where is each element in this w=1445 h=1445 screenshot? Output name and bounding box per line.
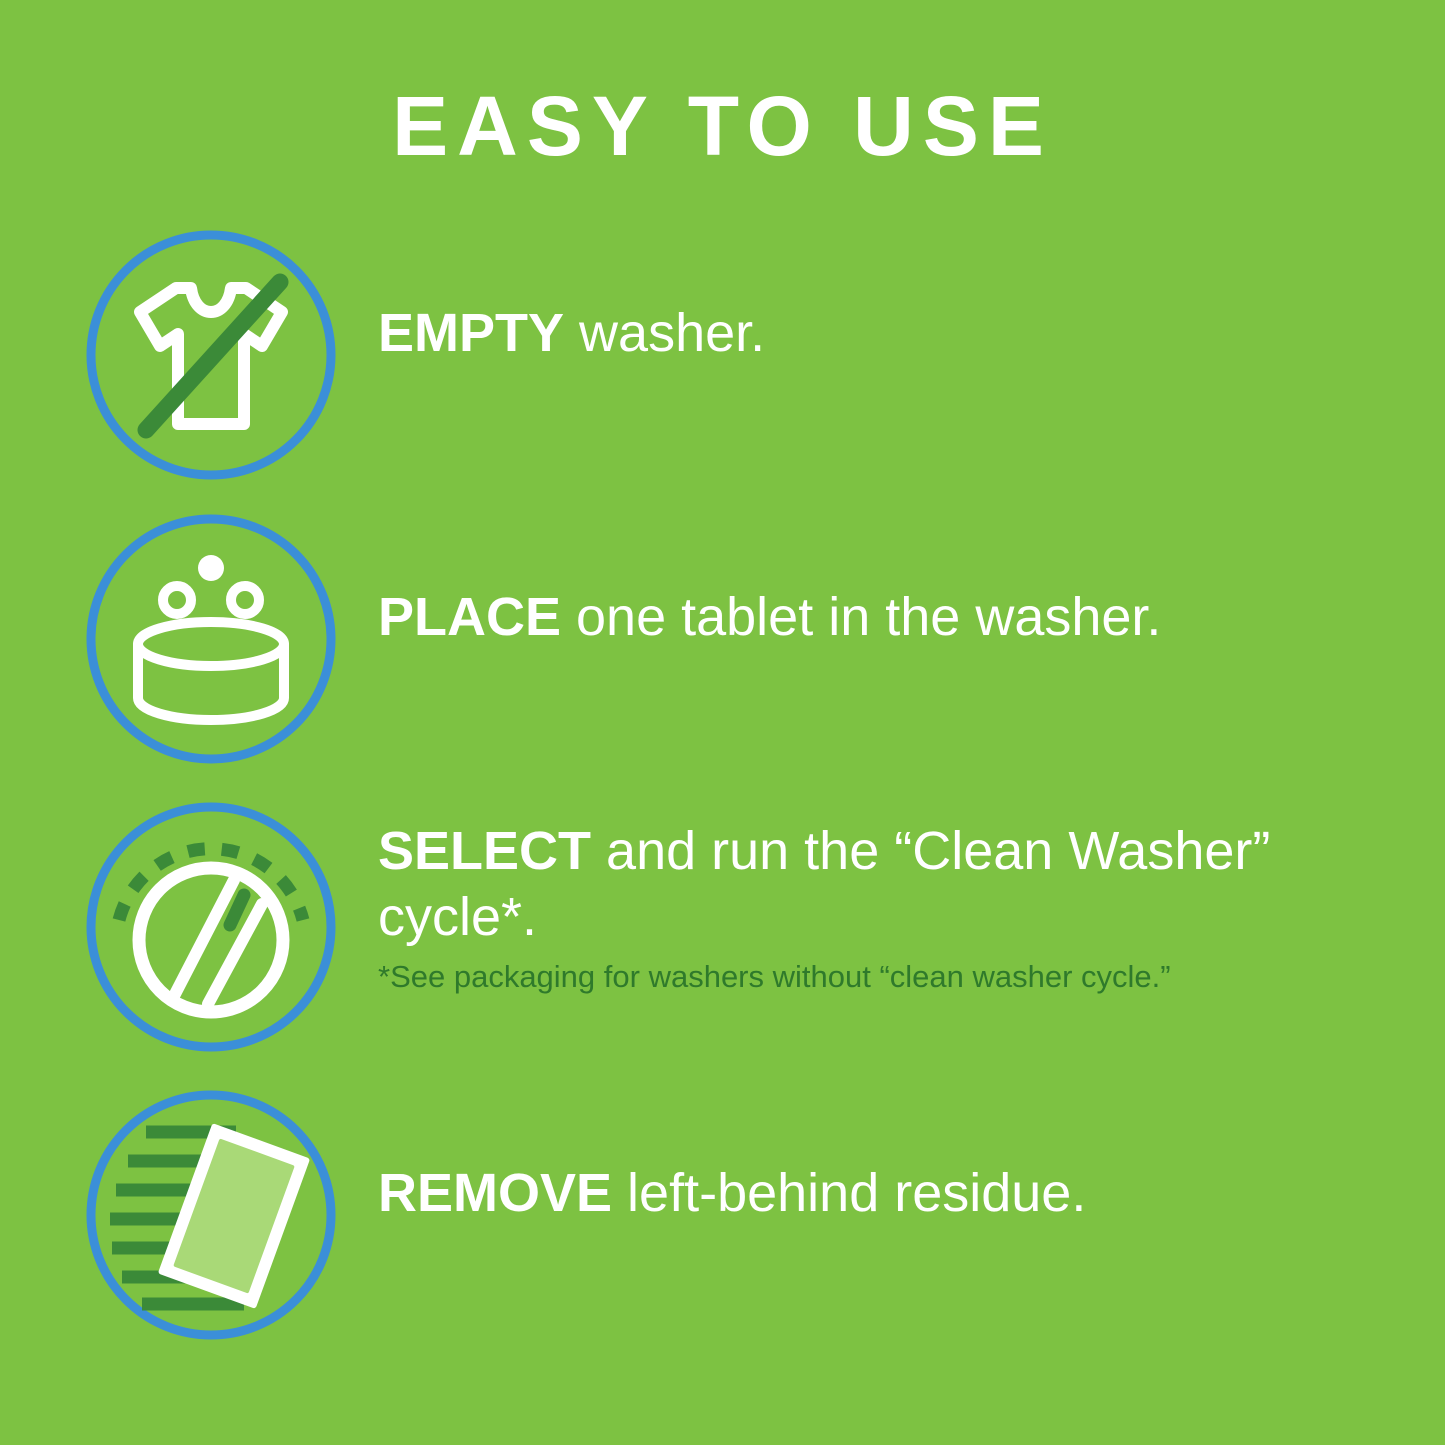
step-copy-2: PLACE one tablet in the washer. [378,584,1388,650]
easy-to-use-poster: EASY TO USE EMPTY washer. [0,0,1445,1445]
washer-dial-icon [84,800,338,1054]
step-line-1: EMPTY washer. [378,300,1388,366]
step-rest-2: one tablet in the washer. [561,587,1161,647]
step-rest-1: washer. [564,303,765,363]
page-title: EASY TO USE [0,82,1445,170]
no-clothes-icon [84,228,338,482]
step-emphasis-4: REMOVE [378,1163,612,1223]
step-line-3: SELECT and run the “Clean Washer” cycle*… [378,818,1388,950]
step-emphasis-2: PLACE [378,587,561,647]
step-rest-4: left-behind residue. [612,1163,1086,1223]
wipe-residue-icon [84,1088,338,1342]
step-copy-4: REMOVE left-behind residue. [378,1160,1388,1226]
step-line-2: PLACE one tablet in the washer. [378,584,1388,650]
tablet-with-bubbles-icon [84,512,338,766]
step-copy-1: EMPTY washer. [378,300,1388,366]
step-emphasis-1: EMPTY [378,303,564,363]
step-footnote-3: *See packaging for washers without “clea… [378,958,1258,995]
step-copy-3: SELECT and run the “Clean Washer” cycle*… [378,818,1388,995]
step-emphasis-3: SELECT [378,821,591,881]
step-line-4: REMOVE left-behind residue. [378,1160,1388,1226]
